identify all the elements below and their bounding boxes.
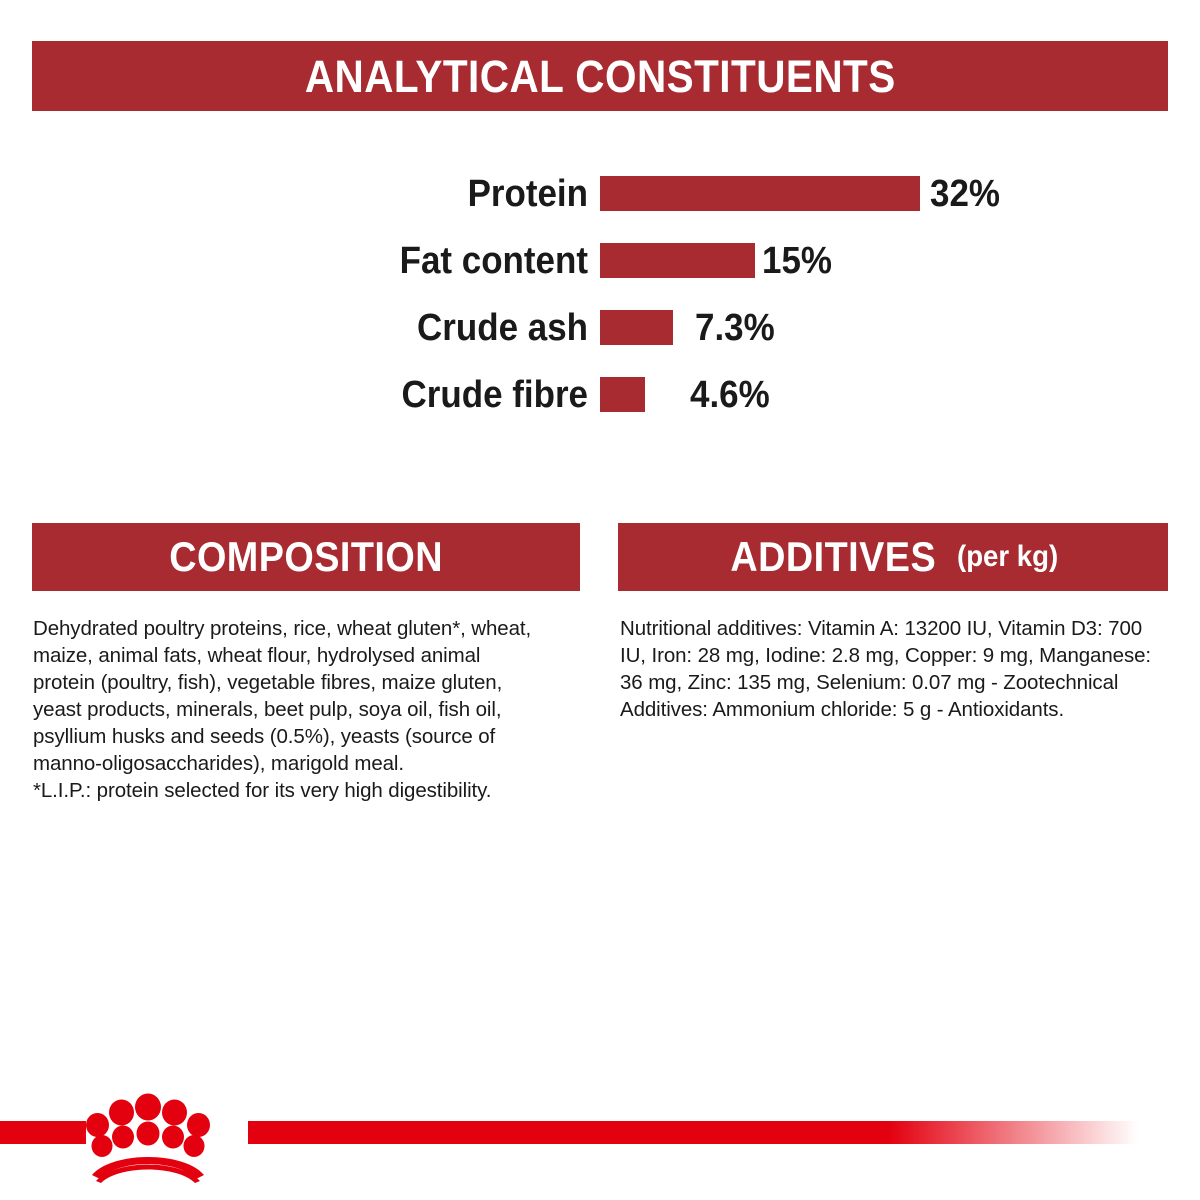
composition-line: maize, animal fats, wheat flour, hydroly… (33, 642, 573, 669)
additives-line: IU, Iron: 28 mg, Iodine: 2.8 mg, Copper:… (620, 642, 1180, 669)
chart-label-fat-content: Fat content (202, 242, 588, 280)
additives-heading: ADDITIVES (731, 536, 937, 578)
chart-bar-crude-ash (600, 310, 673, 345)
additives-text: Nutritional additives: Vitamin A: 13200 … (620, 615, 1180, 723)
composition-text: Dehydrated poultry proteins, rice, wheat… (33, 615, 573, 804)
additives-banner: ADDITIVES (per kg) (618, 523, 1168, 591)
chart-value-crude-fibre: 4.6% (690, 376, 770, 414)
additives-line: Nutritional additives: Vitamin A: 13200 … (620, 615, 1180, 642)
additives-line: 36 mg, Zinc: 135 mg, Selenium: 0.07 mg -… (620, 669, 1180, 696)
composition-line: manno-oligosaccharides), marigold meal. (33, 750, 573, 777)
analytical-constituents-chart: Protein 32% Fat content 15% Crude ash 7.… (0, 160, 1200, 430)
chart-row: Crude ash 7.3% (0, 294, 1200, 361)
additives-heading-suffix: (per kg) (957, 540, 1058, 574)
page-title: ANALYTICAL CONSTITUENTS (305, 54, 896, 99)
chart-label-crude-fibre: Crude fibre (202, 376, 588, 414)
chart-row: Fat content 15% (0, 227, 1200, 294)
composition-banner: COMPOSITION (32, 523, 580, 591)
composition-lip-footnote: *L.I.P.: protein selected for its very h… (33, 777, 573, 804)
chart-value-fat-content: 15% (762, 242, 832, 280)
composition-line: yeast products, minerals, beet pulp, soy… (33, 696, 573, 723)
chart-value-protein: 32% (930, 175, 1000, 213)
footer-rule-right (248, 1121, 1138, 1144)
chart-bar-crude-fibre (600, 377, 645, 412)
footer-rule-left (0, 1121, 86, 1144)
chart-label-protein: Protein (202, 175, 588, 213)
chart-value-crude-ash: 7.3% (695, 309, 775, 347)
composition-line: psyllium husks and seeds (0.5%), yeasts … (33, 723, 573, 750)
chart-row: Protein 32% (0, 160, 1200, 227)
chart-bar-fat-content (600, 243, 755, 278)
royal-canin-crown-icon (78, 1093, 218, 1183)
composition-line: protein (poultry, fish), vegetable fibre… (33, 669, 573, 696)
additives-line: Additives: Ammonium chloride: 5 g - Anti… (620, 696, 1180, 723)
composition-heading: COMPOSITION (169, 536, 443, 578)
chart-label-crude-ash: Crude ash (202, 309, 588, 347)
analytical-constituents-banner: ANALYTICAL CONSTITUENTS (32, 41, 1168, 111)
composition-line: Dehydrated poultry proteins, rice, wheat… (33, 615, 573, 642)
chart-bar-protein (600, 176, 920, 211)
chart-row: Crude fibre 4.6% (0, 361, 1200, 428)
